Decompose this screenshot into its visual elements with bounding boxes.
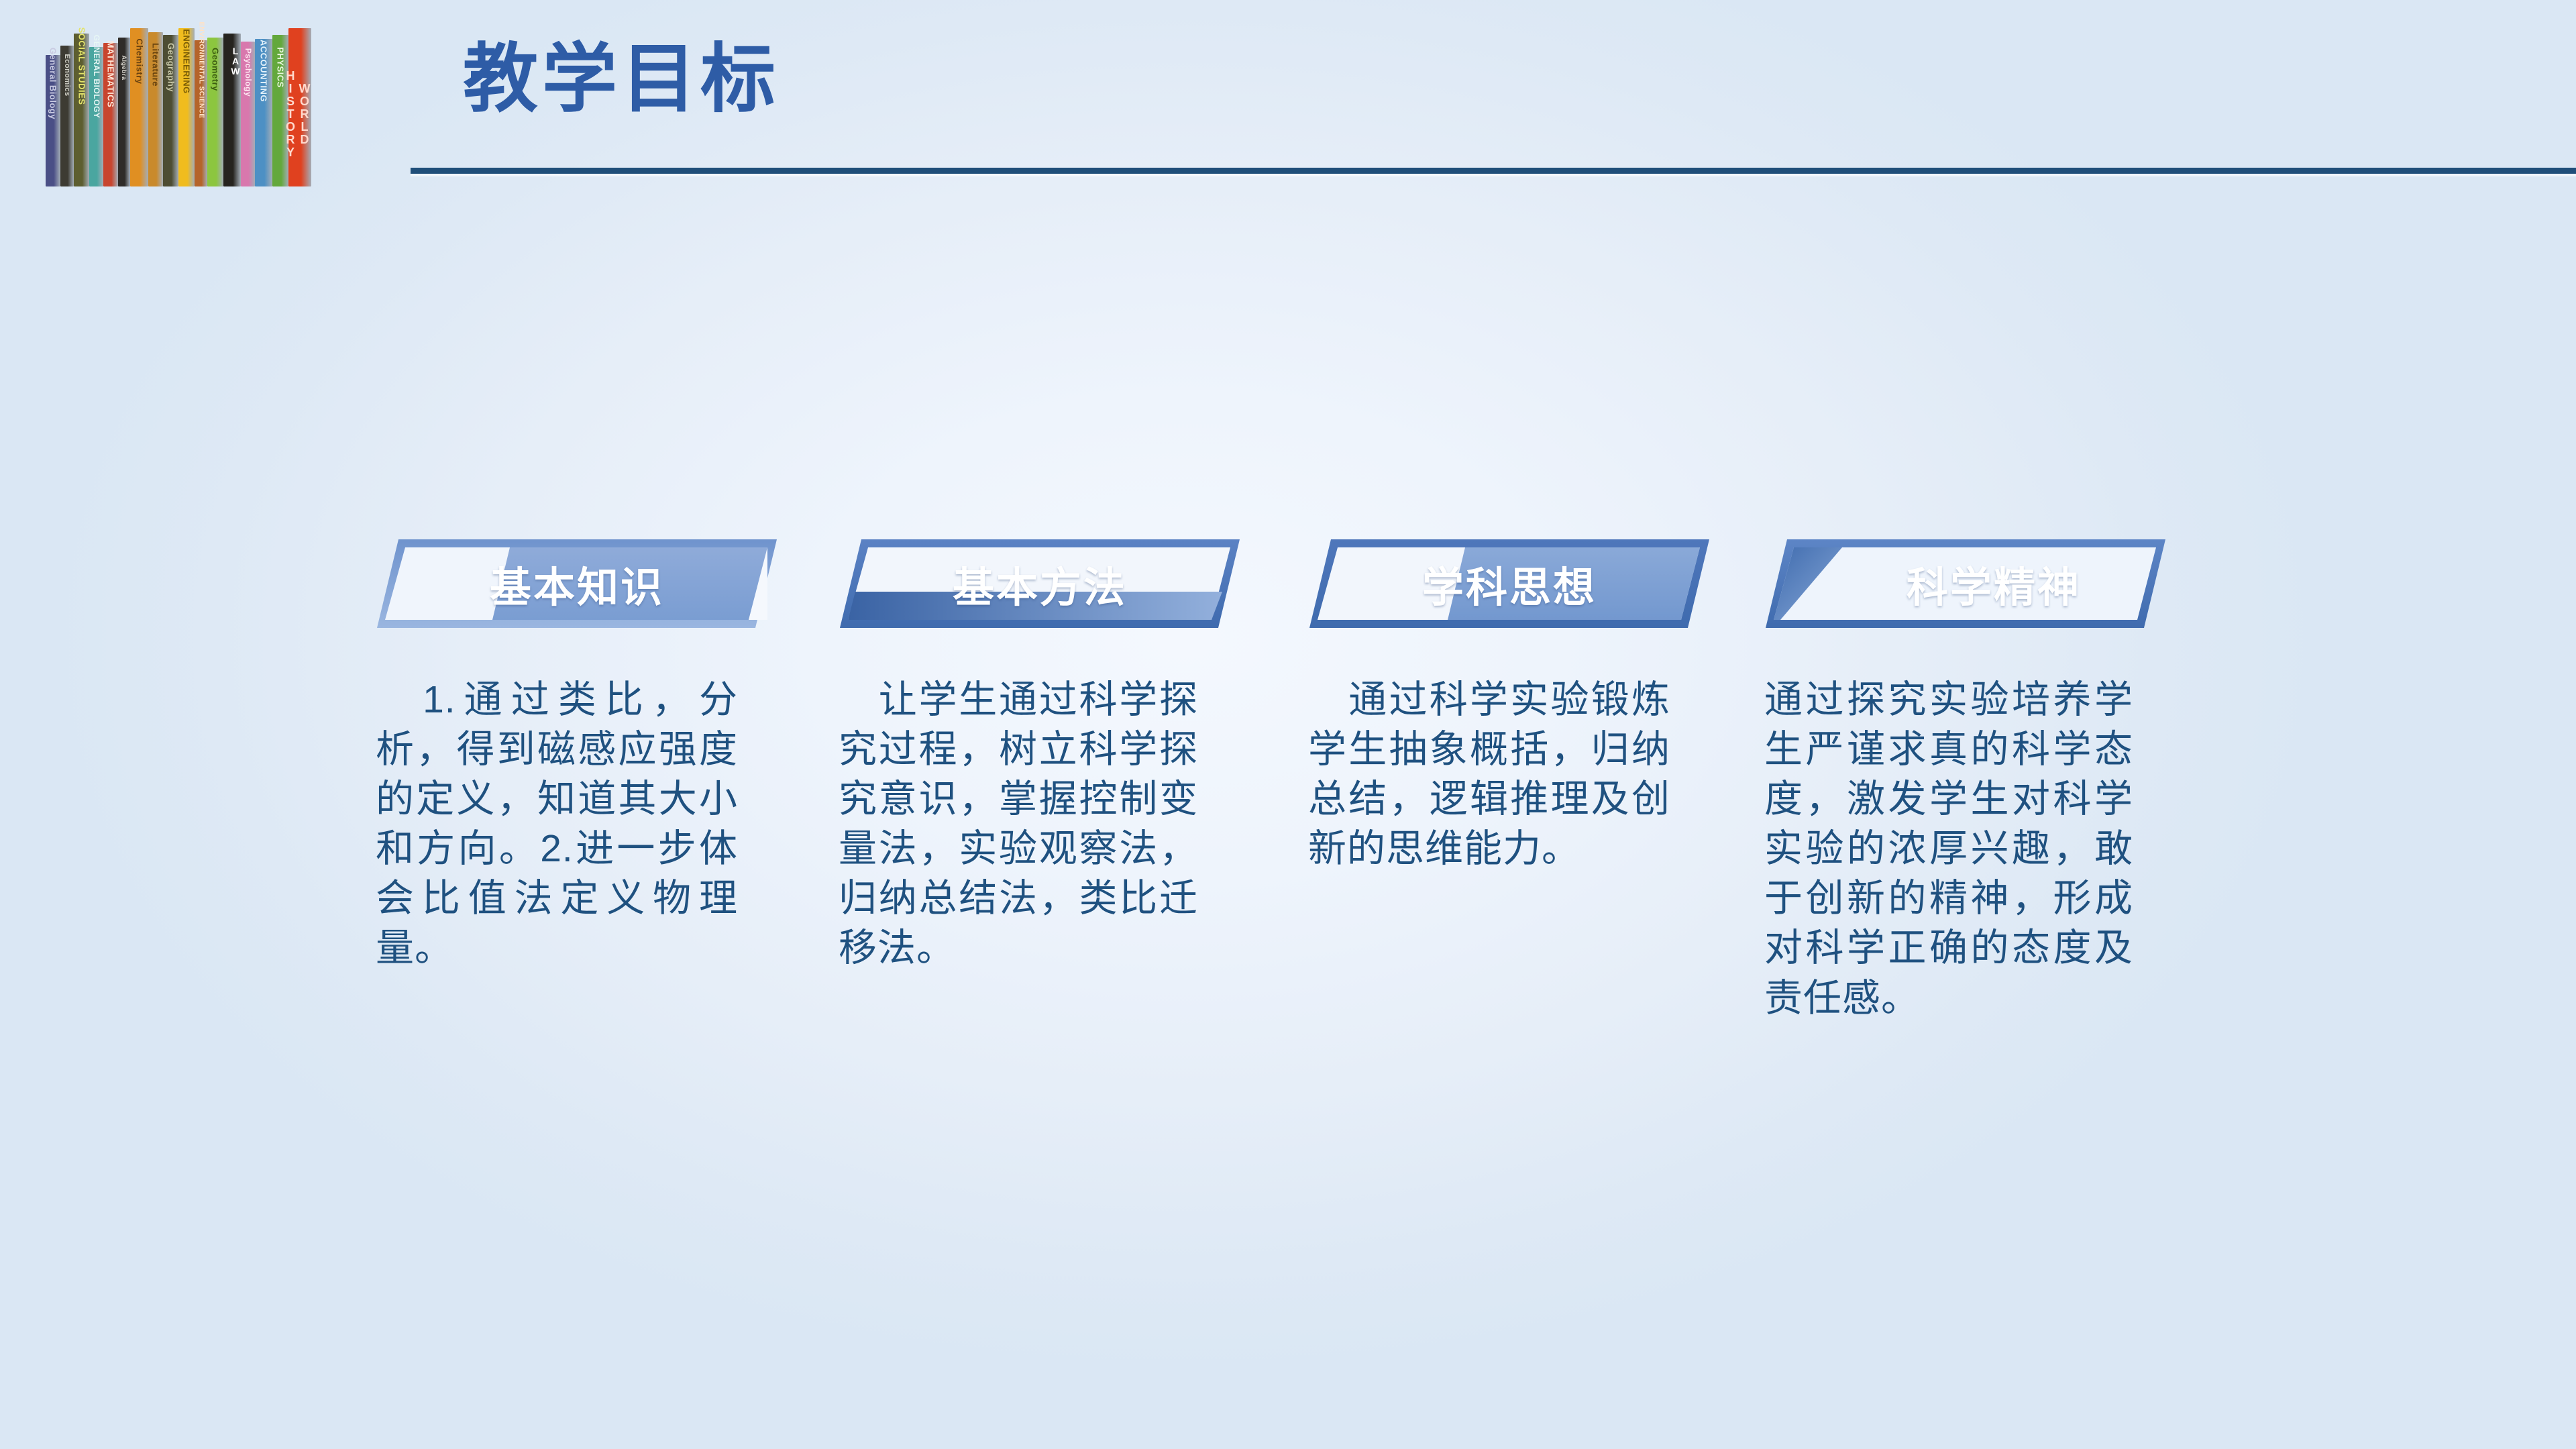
badge-label-2: 基本方法 <box>839 537 1271 631</box>
book-spine: MATHEMATICS <box>103 43 118 186</box>
book-spine-label: Psychology <box>244 48 253 97</box>
book-spine: General Biology <box>46 55 60 186</box>
goal-column-basic-method: 基本方法 让学生通过科学探究过程，树立科学探究意识，掌握控制变量法，实验观察法，… <box>839 537 1268 973</box>
bookshelf-icon: General BiologyEconomicsSOCIAL STUDIESGE… <box>46 25 408 186</box>
book-spine: WORLD HISTORY <box>288 28 311 186</box>
book-spine-label: ACCOUNTING <box>259 40 269 102</box>
badge-subject-thinking[interactable]: 学科思想 <box>1308 537 1711 631</box>
goal-text-scientific-spirit: 通过探究实验培养学生严谨求真的科学态度，激发学生对科学实验的浓厚兴趣，敢于创新的… <box>1764 675 2133 1023</box>
book-spine-label: WORLD HISTORY <box>288 41 311 186</box>
badge-basic-method[interactable]: 基本方法 <box>839 537 1241 631</box>
goal-column-basic-knowledge: 基本知识 1.通过类比，分析，得到磁感应强度的定义，知道其大小和方向。2.进一步… <box>376 537 805 973</box>
book-spine-label: LAW <box>223 46 241 76</box>
badge-label-1: 基本知识 <box>376 537 804 631</box>
book-spine-label: Geography <box>166 43 176 92</box>
goal-column-scientific-spirit: 科学精神 通过探究实验培养学生严谨求真的科学态度，激发学生对科学实验的浓厚兴趣，… <box>1764 537 2207 1023</box>
badge-label-4: 科学精神 <box>1764 537 2195 631</box>
book-spine-label: Geometry <box>211 48 221 91</box>
title-underline-rule <box>411 168 2576 174</box>
badge-label-3: 学科思想 <box>1308 537 1731 631</box>
page-title: 教学目标 <box>463 42 780 117</box>
book-spine: ENGINEERING <box>178 28 195 186</box>
book-spine-label: General Biology <box>48 48 58 119</box>
book-spine-label: Economics <box>63 54 71 96</box>
book-spine: ACCOUNTING <box>255 39 272 186</box>
book-spine: Literature <box>148 32 163 186</box>
book-spine: ENVIRONMENTAL SCIENCE <box>195 40 207 186</box>
book-spine: Psychology <box>241 42 255 186</box>
goal-text-basic-method: 让学生通过科学探究过程，树立科学探究意识，掌握控制变量法，实验观察法，归纳总结法… <box>839 675 1198 973</box>
book-spine-label: Chemistry <box>134 39 144 85</box>
book-spine-label: Literature <box>151 43 161 87</box>
book-spine: Algebra <box>118 38 130 186</box>
book-spine: Geometry <box>207 38 223 186</box>
book-spine: LAW <box>223 34 241 186</box>
book-spine: SOCIAL STUDIES <box>74 34 89 186</box>
book-spine-label: ENGINEERING <box>182 30 192 95</box>
book-spine-label: SOCIAL STUDIES <box>76 28 87 105</box>
title-underline-highlight <box>411 174 2576 176</box>
book-spine: GENERAL BIOLOGY <box>89 47 103 186</box>
book-spine-label: MATHEMATICS <box>106 40 116 107</box>
goal-text-basic-knowledge: 1.通过类比，分析，得到磁感应强度的定义，知道其大小和方向。2.进一步体会比值法… <box>376 675 738 973</box>
goal-column-subject-thinking: 学科思想 通过科学实验锻炼学生抽象概括，归纳总结，逻辑推理及创新的思维能力。 <box>1308 537 1737 873</box>
badge-basic-knowledge[interactable]: 基本知识 <box>376 537 778 631</box>
book-spine-label: GENERAL BIOLOGY <box>92 35 101 119</box>
book-spine-label: Algebra <box>121 55 127 80</box>
book-spine: Chemistry <box>130 28 148 186</box>
book-spine: Economics <box>60 46 74 186</box>
badge-scientific-spirit[interactable]: 科学精神 <box>1764 537 2167 631</box>
goal-text-subject-thinking: 通过科学实验锻炼学生抽象概括，归纳总结，逻辑推理及创新的思维能力。 <box>1308 675 1670 873</box>
goals-columns: 基本知识 1.通过类比，分析，得到磁感应强度的定义，知道其大小和方向。2.进一步… <box>0 537 2576 1342</box>
book-spine: Geography <box>163 35 178 186</box>
slide-canvas: General BiologyEconomicsSOCIAL STUDIESGE… <box>0 0 2576 1449</box>
book-spine-label: ENVIRONMENTAL SCIENCE <box>197 22 205 119</box>
